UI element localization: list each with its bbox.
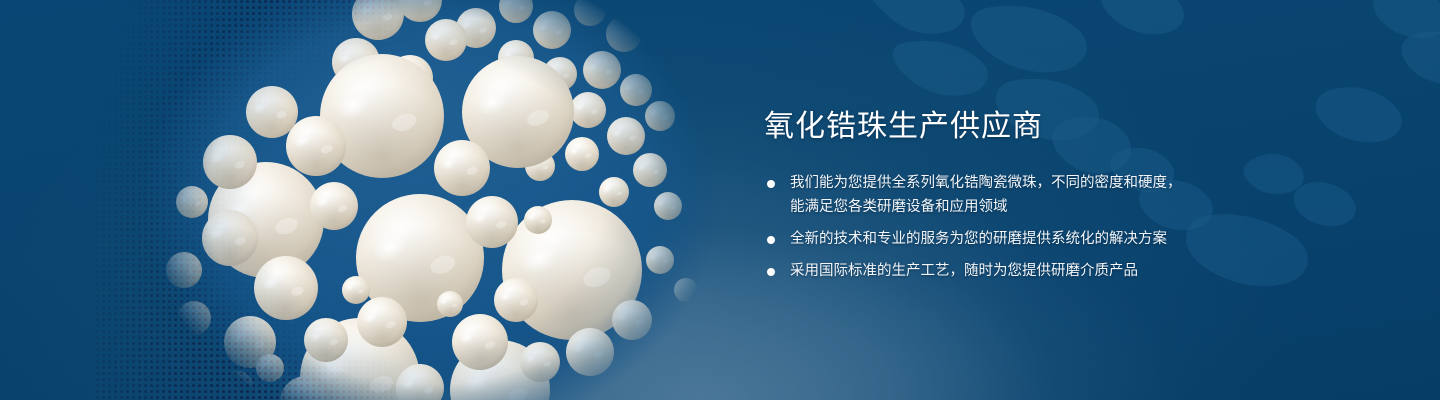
list-item: 采用国际标准的生产工艺，随时为您提供研磨介质产品 xyxy=(764,260,1324,283)
hero-banner: 氧化锆珠生产供应商 我们能为您提供全系列氧化锆陶瓷微珠，不同的密度和硬度， 能满… xyxy=(0,0,1440,400)
bullet-text-line: 我们能为您提供全系列氧化锆陶瓷微珠，不同的密度和硬度， xyxy=(790,172,1324,195)
bullet-dot-icon xyxy=(767,236,775,244)
bullet-text-line: 采用国际标准的生产工艺，随时为您提供研磨介质产品 xyxy=(790,260,1324,283)
zirconia-bead-photo xyxy=(120,0,740,400)
bullet-text-line: 能满足您各类研磨设备和应用领域 xyxy=(790,196,1324,219)
bullet-dot-icon xyxy=(767,268,775,276)
bullet-text-line: 全新的技术和专业的服务为您的研磨提供系统化的解决方案 xyxy=(790,228,1324,251)
bullet-dot-icon xyxy=(767,180,775,188)
banner-bullet-list: 我们能为您提供全系列氧化锆陶瓷微珠，不同的密度和硬度， 能满足您各类研磨设备和应… xyxy=(764,172,1324,283)
banner-headline: 氧化锆珠生产供应商 xyxy=(764,108,1324,146)
list-item: 全新的技术和专业的服务为您的研磨提供系统化的解决方案 xyxy=(764,228,1324,251)
list-item: 我们能为您提供全系列氧化锆陶瓷微珠，不同的密度和硬度， 能满足您各类研磨设备和应… xyxy=(764,172,1324,219)
banner-copy: 氧化锆珠生产供应商 我们能为您提供全系列氧化锆陶瓷微珠，不同的密度和硬度， 能满… xyxy=(764,108,1324,283)
